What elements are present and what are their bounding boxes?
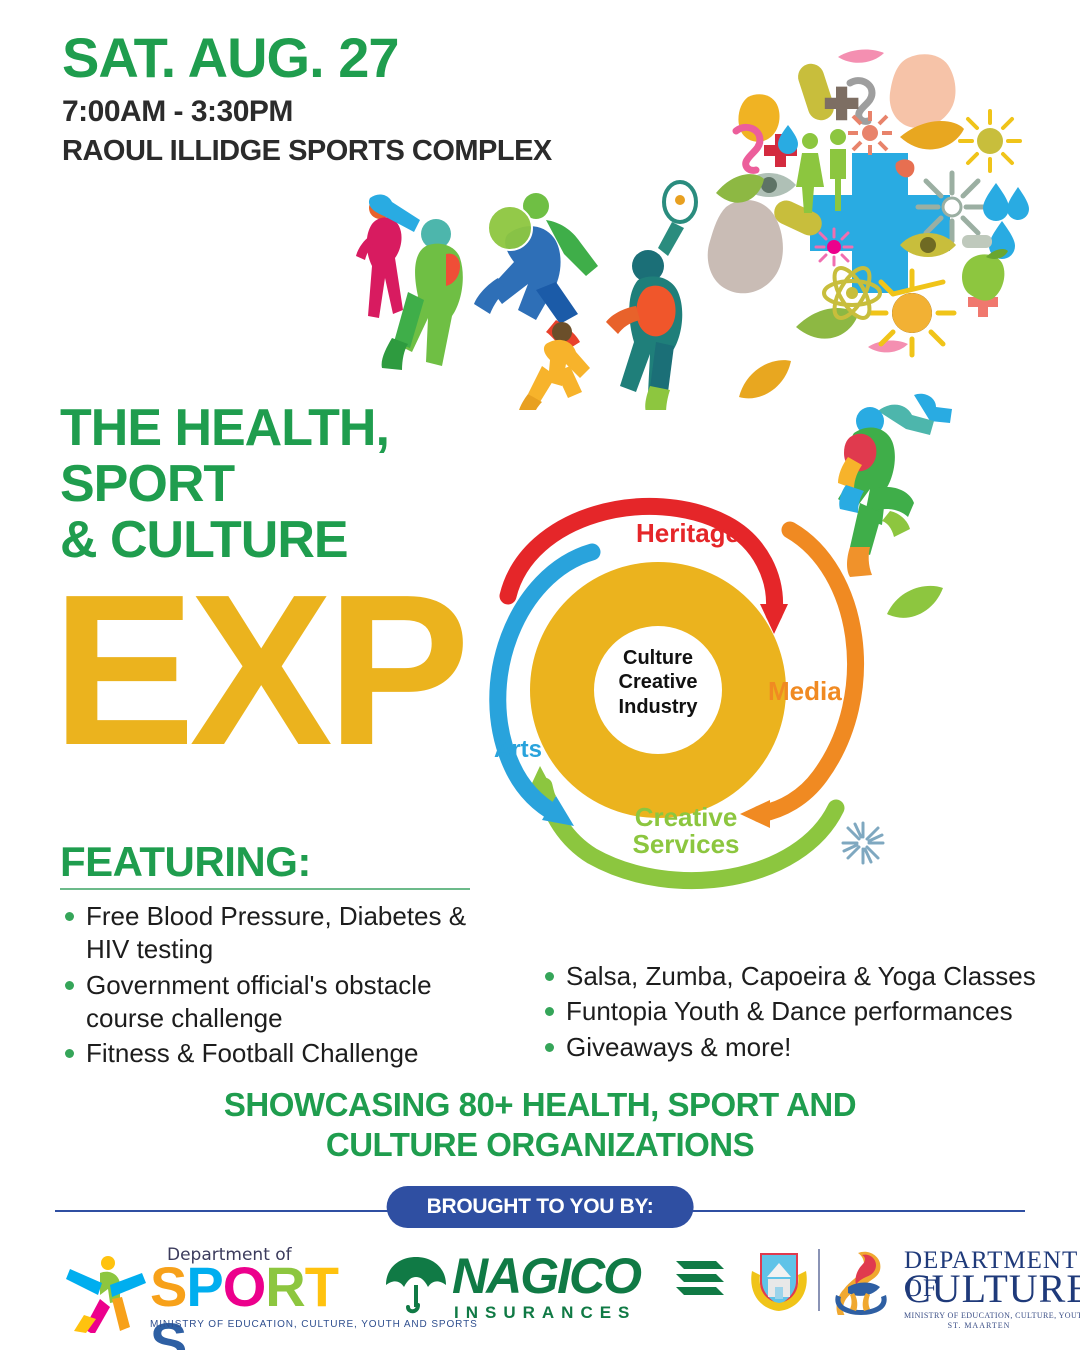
- umbrella-icon: [384, 1255, 448, 1317]
- title-line-2: SPORT: [60, 456, 389, 512]
- showcase-line-2: CULTURE ORGANIZATIONS: [0, 1125, 1080, 1165]
- diagram-center-label: Culture Creative Industry: [590, 646, 726, 719]
- logo-department-of-culture: DEPARTMENT OF CULTURE MINISTRY OF EDUCAT…: [748, 1243, 1048, 1335]
- list-item: Fitness & Football Challenge: [60, 1037, 500, 1070]
- label-media: Media: [768, 676, 842, 707]
- event-time: 7:00AM - 3:30PM: [62, 96, 552, 128]
- list-item: Government official's obstacle course ch…: [60, 969, 500, 1036]
- featuring-divider: [60, 888, 470, 890]
- nagico-stripes-icon: [672, 1257, 724, 1297]
- culture-logo-location-text: ST. MAARTEN: [904, 1321, 1054, 1330]
- label-arts: Arts: [494, 736, 542, 764]
- list-item: Free Blood Pressure, Diabetes & HIV test…: [60, 900, 500, 967]
- coat-of-arms-icon: [748, 1249, 810, 1313]
- event-header: SAT. AUG. 27 7:00AM - 3:30PM RAOUL ILLID…: [62, 30, 552, 166]
- running-figure-icon: [64, 1253, 150, 1333]
- featuring-list-left: Free Blood Pressure, Diabetes & HIV test…: [60, 900, 500, 1072]
- expo-wordmark: EXP: [52, 575, 464, 764]
- sports-letter: S: [150, 1259, 186, 1315]
- sports-logo-wordmark: SPORTS: [150, 1259, 342, 1350]
- culture-logo-ministry-text: MINISTRY OF EDUCATION, CULTURE, YOUTH & …: [904, 1311, 1080, 1320]
- featuring-heading: FEATURING:: [60, 838, 311, 886]
- nagico-subtitle: INSURANCES: [454, 1303, 636, 1323]
- sports-letter: P: [186, 1259, 222, 1315]
- sports-letter: R: [265, 1259, 304, 1315]
- list-item: Giveaways & more!: [540, 1031, 1060, 1064]
- flower-icon: [840, 820, 886, 866]
- label-creative-services: Creative Services: [596, 804, 776, 859]
- logo-department-of-sports: Department of SPORTS MINISTRY OF EDUCATI…: [62, 1245, 342, 1333]
- title-line-1: THE HEALTH,: [60, 400, 389, 456]
- poster-canvas: SAT. AUG. 27 7:00AM - 3:30PM RAOUL ILLID…: [0, 0, 1080, 1350]
- logo-nagico-insurances: NAGICO INSURANCES: [380, 1251, 710, 1327]
- list-item: Salsa, Zumba, Capoeira & Yoga Classes: [540, 960, 1060, 993]
- sports-letter: T: [305, 1259, 338, 1315]
- leaf-icon: [735, 355, 793, 403]
- main-title: THE HEALTH, SPORT & CULTURE: [60, 400, 389, 568]
- list-item: Funtopia Youth & Dance performances: [540, 995, 1060, 1028]
- athlete-silhouettes: [350, 180, 720, 410]
- event-date: SAT. AUG. 27: [62, 30, 552, 86]
- label-heritage: Heritage: [618, 518, 758, 549]
- nagico-wordmark: NAGICO: [452, 1251, 640, 1301]
- sponsor-logos: Department of SPORTS MINISTRY OF EDUCATI…: [0, 1243, 1080, 1338]
- leaf-icon: [885, 580, 945, 626]
- sponsor-band: BROUGHT TO YOU BY:: [0, 1186, 1080, 1236]
- culture-logo-line-2: CULTURE: [904, 1269, 1080, 1309]
- health-icons-collage: [700, 35, 1060, 395]
- event-venue: RAOUL ILLIDGE SPORTS COMPLEX: [62, 136, 552, 166]
- brought-to-you-by-badge: BROUGHT TO YOU BY:: [387, 1186, 694, 1228]
- pelican-icon: [828, 1247, 894, 1315]
- featuring-list-right: Salsa, Zumba, Capoeira & Yoga Classes Fu…: [540, 960, 1060, 1066]
- showcase-tagline: SHOWCASING 80+ HEALTH, SPORT AND CULTURE…: [0, 1085, 1080, 1164]
- diagram-labels: Heritage Media Creative Services Arts Cu…: [468, 478, 888, 898]
- showcase-line-1: SHOWCASING 80+ HEALTH, SPORT AND: [0, 1085, 1080, 1125]
- sports-letter: O: [223, 1259, 266, 1315]
- logo-divider: [818, 1249, 820, 1311]
